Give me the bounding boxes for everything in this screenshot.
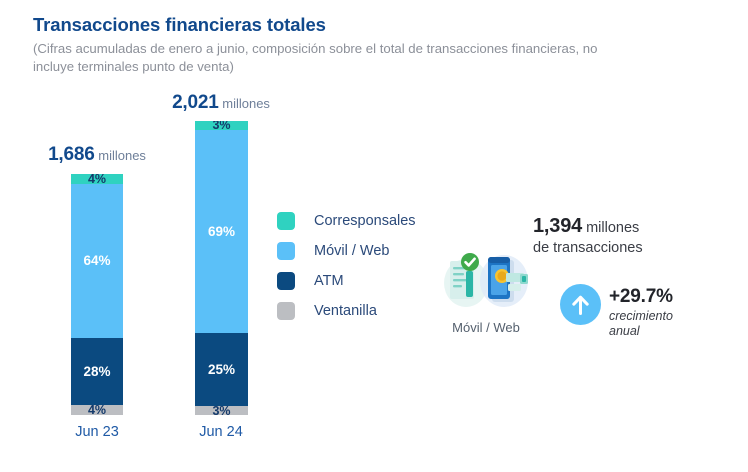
segment-label: 4% xyxy=(88,403,106,415)
legend-label-corresponsales: Corresponsales xyxy=(314,213,416,229)
growth-note: crecimiento anual xyxy=(609,309,673,338)
highlight-value-row: 1,394 millones xyxy=(533,215,639,238)
segment-ventanilla-0[interactable]: 4% xyxy=(71,405,123,415)
arrow-up-icon xyxy=(560,284,601,325)
segment-label: 28% xyxy=(83,364,110,379)
segment-corresponsales-0[interactable]: 4% xyxy=(71,174,123,184)
segment-atm-1[interactable]: 25% xyxy=(195,333,248,407)
infographic-canvas: Transacciones financieras totales (Cifra… xyxy=(0,0,748,472)
legend-item-corresponsales[interactable]: Corresponsales xyxy=(277,206,416,236)
stacked-bar-chart: 1,686 millones 4% 64% 28% 4% Jun 23 xyxy=(0,0,300,472)
legend-label-atm: ATM xyxy=(314,273,344,289)
legend-label-ventanilla: Ventanilla xyxy=(314,303,377,319)
movil-web-illustration xyxy=(436,243,536,313)
bar-total-label-0: 1,686 millones xyxy=(48,144,146,166)
legend-swatch-atm xyxy=(277,272,295,290)
highlight-value-subtitle: de transacciones xyxy=(533,240,643,256)
legend-item-ventanilla[interactable]: Ventanilla xyxy=(277,296,416,326)
highlight-value: 1,394 xyxy=(533,215,582,237)
illustration-caption: Móvil / Web xyxy=(452,320,520,335)
bar-total-value-1: 2,021 xyxy=(172,92,219,113)
segment-movil-web-1[interactable]: 69% xyxy=(195,130,248,333)
axis-label-jun-23: Jun 23 xyxy=(75,424,119,440)
segment-label: 69% xyxy=(208,224,235,239)
segment-corresponsales-1[interactable]: 3% xyxy=(195,121,248,130)
highlight-value-unit: millones xyxy=(586,220,639,236)
bar-total-unit-0: millones xyxy=(98,148,146,163)
bar-jun-24[interactable]: 3% 69% 25% 3% xyxy=(195,121,248,415)
segment-atm-0[interactable]: 28% xyxy=(71,338,123,405)
legend-swatch-movil-web xyxy=(277,242,295,260)
segment-label: 64% xyxy=(83,253,110,268)
segment-label: 25% xyxy=(208,362,235,377)
segment-ventanilla-1[interactable]: 3% xyxy=(195,406,248,415)
legend-swatch-corresponsales xyxy=(277,212,295,230)
growth-note-line-1: crecimiento xyxy=(609,309,673,324)
bar-jun-23[interactable]: 4% 64% 28% 4% xyxy=(71,174,123,415)
growth-note-line-2: anual xyxy=(609,324,673,339)
segment-label: 3% xyxy=(212,404,230,415)
segment-movil-web-0[interactable]: 64% xyxy=(71,184,123,338)
axis-label-jun-24: Jun 24 xyxy=(199,424,243,440)
legend-swatch-ventanilla xyxy=(277,302,295,320)
legend-item-movil-web[interactable]: Móvil / Web xyxy=(277,236,416,266)
bar-total-unit-1: millones xyxy=(222,96,270,111)
legend-label-movil-web: Móvil / Web xyxy=(314,243,389,259)
chart-legend: Corresponsales Móvil / Web ATM Ventanill… xyxy=(277,206,416,326)
bar-total-value-0: 1,686 xyxy=(48,144,95,165)
legend-item-atm[interactable]: ATM xyxy=(277,266,416,296)
growth-percentage: +29.7% xyxy=(609,286,673,308)
bar-total-label-1: 2,021 millones xyxy=(172,92,270,114)
